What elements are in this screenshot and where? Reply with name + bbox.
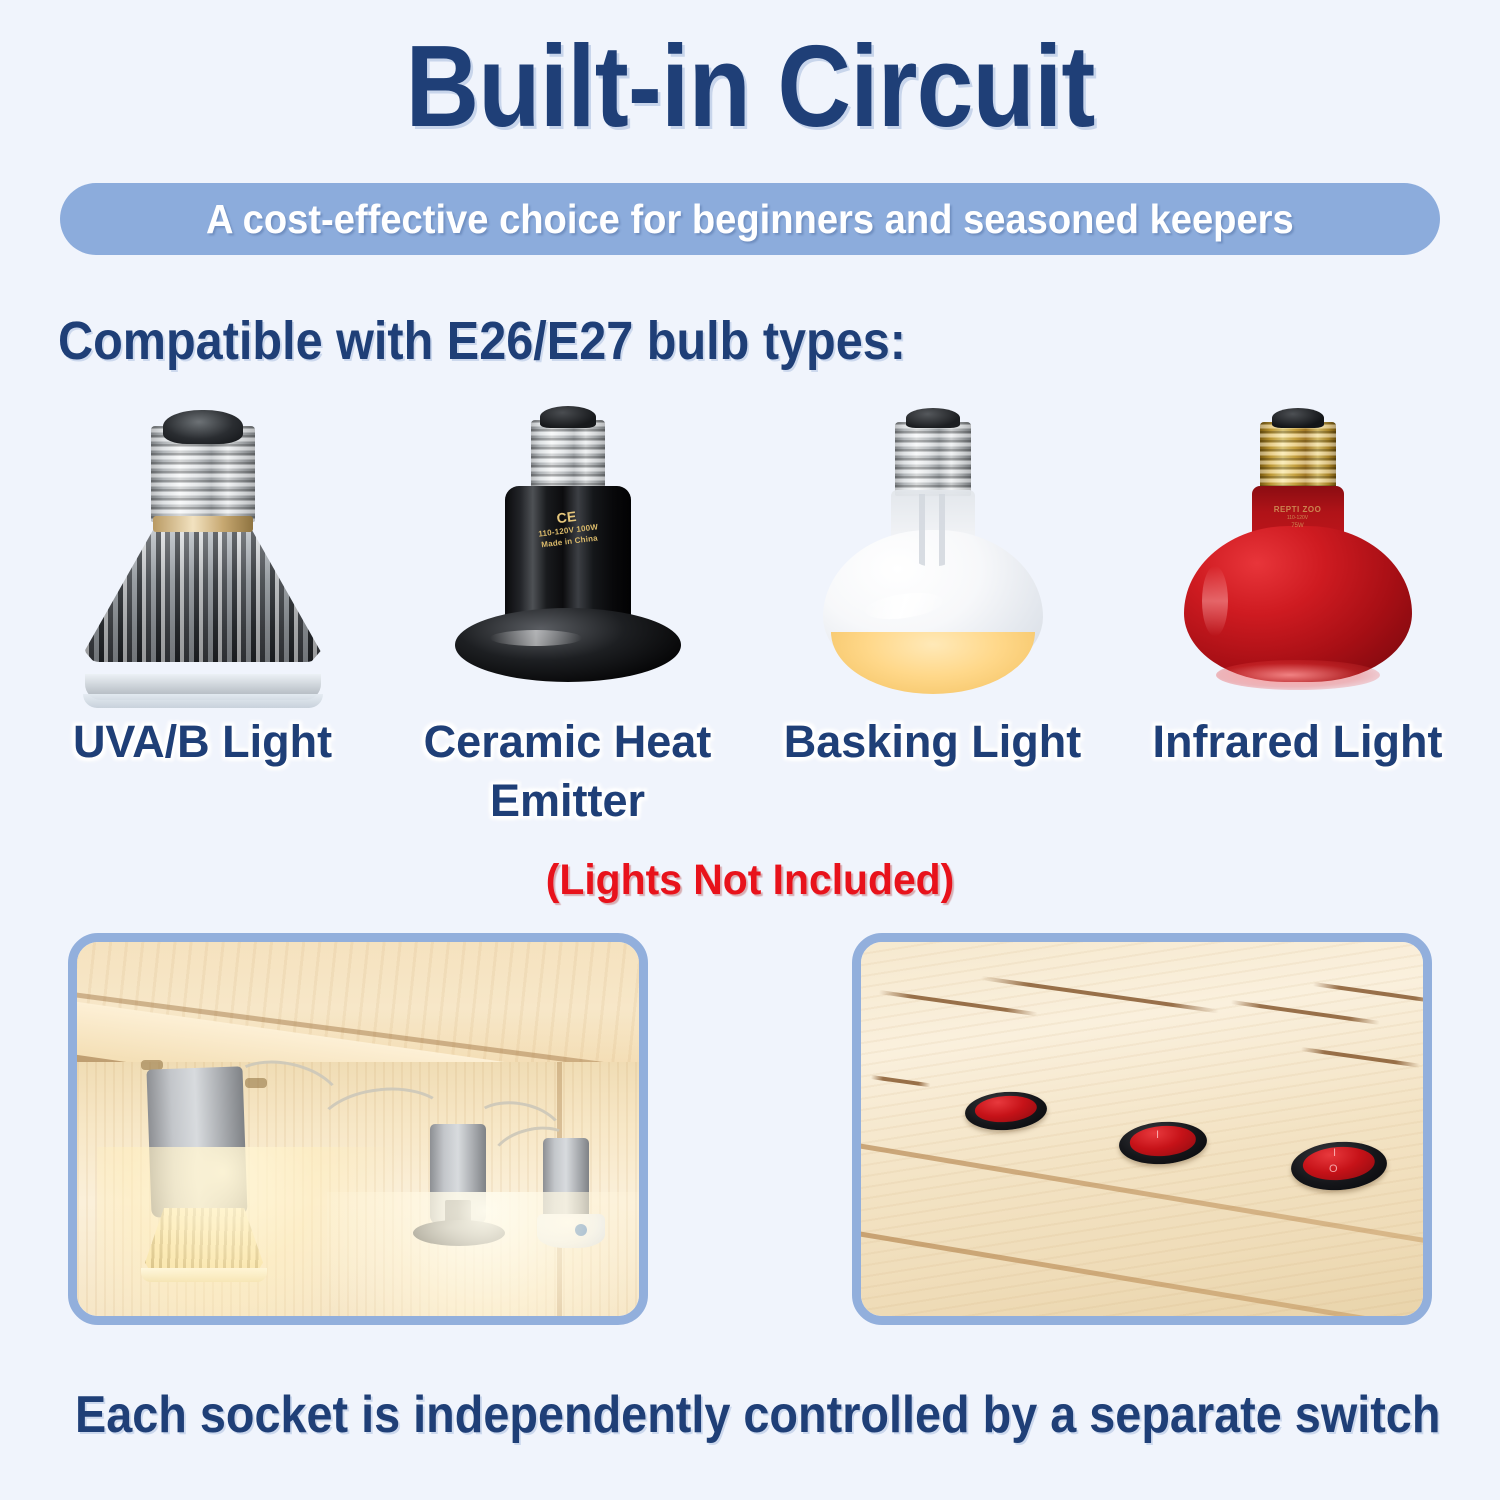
bulb-contact-tip-icon (906, 408, 960, 428)
subtitle-banner: A cost-effective choice for beginners an… (60, 183, 1440, 255)
bulb-contact-tip-icon (163, 410, 243, 444)
bulb-contact-tip-icon (540, 406, 596, 428)
bulb-label-uva-b: UVA/B Light (20, 712, 385, 842)
infrared-bottom-highlight (1216, 660, 1380, 690)
bulb-image-row: CE 110-120V 100W Made in China REPTI ZOO… (20, 398, 1480, 708)
filament-icon (913, 494, 953, 566)
footer-caption: Each socket is independently controlled … (75, 1385, 1425, 1445)
reflector-cone-icon (85, 526, 321, 662)
wire-clip (245, 1078, 267, 1088)
bulb-label-basking: Basking Light (750, 712, 1115, 842)
basking-warm-glow (831, 632, 1035, 694)
bulb-ceramic-heat-emitter: CE 110-120V 100W Made in China (385, 398, 750, 708)
subtitle-text: A cost-effective choice for beginners an… (206, 196, 1294, 243)
bulb-infrared: REPTI ZOO 110-120V 75W (1115, 398, 1480, 708)
switch-on-marking-icon: I (1333, 1148, 1336, 1159)
light-glow (327, 1192, 648, 1325)
photo-left-content (77, 942, 639, 1316)
lights-not-included-note: (Lights Not Included) (38, 856, 1463, 905)
photo-rocker-switches-on-panel: I I O (852, 933, 1432, 1325)
compatibility-heading: Compatible with E26/E27 bulb types: (58, 310, 906, 372)
infrared-spec-text: 110-120V (1260, 515, 1336, 522)
page-title: Built-in Circuit (90, 28, 1410, 144)
bulb-contact-tip-icon (1272, 408, 1324, 428)
e27-brass-screw-base-icon (1260, 422, 1336, 492)
ceramic-base-disc (455, 608, 681, 682)
bulb-collar (153, 516, 253, 532)
switch-on-marking-icon: I (1156, 1130, 1159, 1141)
bulb-label-ceramic: Ceramic Heat Emitter (385, 712, 750, 842)
bulb-basking (750, 398, 1115, 708)
e27-screw-base-icon (531, 420, 605, 490)
bulb-label-infrared: Infrared Light (1115, 712, 1480, 842)
bulb-label-row: UVA/B Light Ceramic Heat Emitter Basking… (20, 712, 1480, 842)
infrared-side-highlight (1202, 566, 1228, 636)
photo-right-content: I I O (861, 942, 1423, 1316)
ceramic-base-highlight (490, 630, 582, 646)
switch-off-marking-icon: O (1329, 1164, 1338, 1175)
reflector-glass-lens (83, 694, 323, 708)
infrared-watt-text: 75W (1260, 522, 1336, 530)
infrared-brand-text: REPTI ZOO (1260, 504, 1336, 515)
photo-sockets-under-wood-panel (68, 933, 648, 1325)
bulb-uva-b (20, 398, 385, 708)
e27-screw-base-icon (895, 422, 971, 496)
infrared-printed-label: REPTI ZOO 110-120V 75W (1260, 504, 1336, 531)
